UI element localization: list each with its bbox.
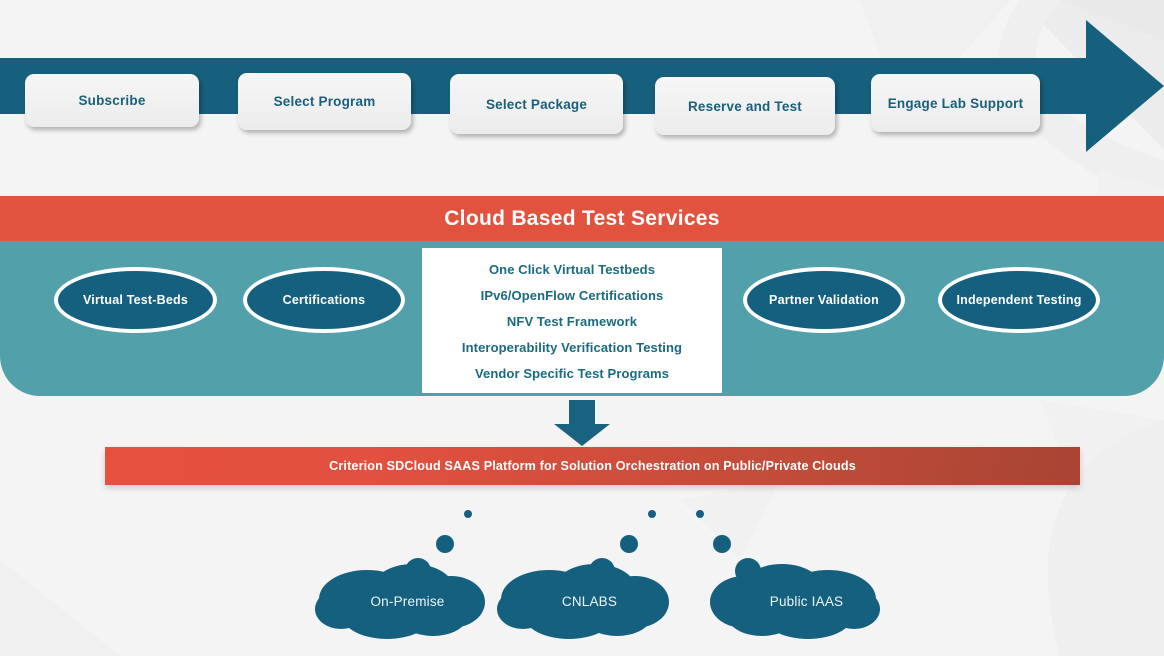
service-list-item: One Click Virtual Testbeds	[489, 257, 655, 283]
journey-step-select-package[interactable]: Select Package	[450, 74, 623, 134]
cloud-icon	[487, 503, 692, 643]
service-ellipse-virtual-test-beds[interactable]: Virtual Test-Beds	[54, 267, 217, 333]
service-list-item: IPv6/OpenFlow Certifications	[481, 283, 664, 309]
service-ellipse-label: Virtual Test-Beds	[83, 293, 188, 307]
service-ellipse-label: Independent Testing	[956, 293, 1081, 307]
journey-step-label: Subscribe	[78, 93, 145, 108]
journey-step-label: Reserve and Test	[688, 99, 802, 114]
platform-bar: Criterion SDCloud SAAS Platform for Solu…	[105, 447, 1080, 485]
service-list-item: NFV Test Framework	[507, 309, 637, 335]
journey-step-reserve-and-test[interactable]: Reserve and Test	[655, 77, 835, 135]
service-list-item: Interoperability Verification Testing	[462, 335, 682, 361]
service-ellipse-partner-validation[interactable]: Partner Validation	[743, 267, 905, 333]
service-ellipse-label: Partner Validation	[769, 293, 879, 307]
platform-bar-label: Criterion SDCloud SAAS Platform for Solu…	[329, 459, 856, 473]
journey-step-select-program[interactable]: Select Program	[238, 73, 411, 130]
journey-step-label: Select Program	[274, 94, 376, 109]
cloud-icon	[305, 503, 510, 643]
service-ellipse-independent-testing[interactable]: Independent Testing	[938, 267, 1100, 333]
cloud-label: Public IAAS	[686, 594, 909, 609]
down-arrow-icon	[552, 400, 612, 446]
cloud-label: CNLABS	[487, 594, 704, 609]
service-ellipse-certifications[interactable]: Certifications	[243, 267, 405, 333]
cloud-icon	[686, 503, 891, 643]
deployment-cloud-public-iaas[interactable]: Public IAAS	[686, 503, 891, 643]
service-ellipse-label: Certifications	[283, 293, 366, 307]
journey-step-subscribe[interactable]: Subscribe	[25, 74, 199, 127]
deployment-cloud-cnlabs[interactable]: CNLABS	[487, 503, 692, 643]
services-section-header: Cloud Based Test Services	[0, 196, 1164, 241]
journey-arrow-banner: Subscribe Select Program Select Package …	[0, 58, 1164, 152]
services-panel: Virtual Test-Beds Certifications One Cli…	[0, 241, 1164, 396]
service-list-item: Vendor Specific Test Programs	[475, 361, 669, 387]
journey-step-label: Select Package	[486, 97, 587, 112]
diagram-canvas: Subscribe Select Program Select Package …	[0, 0, 1164, 656]
journey-step-label: Engage Lab Support	[888, 96, 1024, 111]
services-header-title: Cloud Based Test Services	[444, 207, 720, 231]
journey-step-engage-lab-support[interactable]: Engage Lab Support	[871, 74, 1040, 132]
deployment-cloud-on-premise[interactable]: On-Premise	[305, 503, 510, 643]
services-list-panel: One Click Virtual Testbeds IPv6/OpenFlow…	[422, 248, 722, 393]
